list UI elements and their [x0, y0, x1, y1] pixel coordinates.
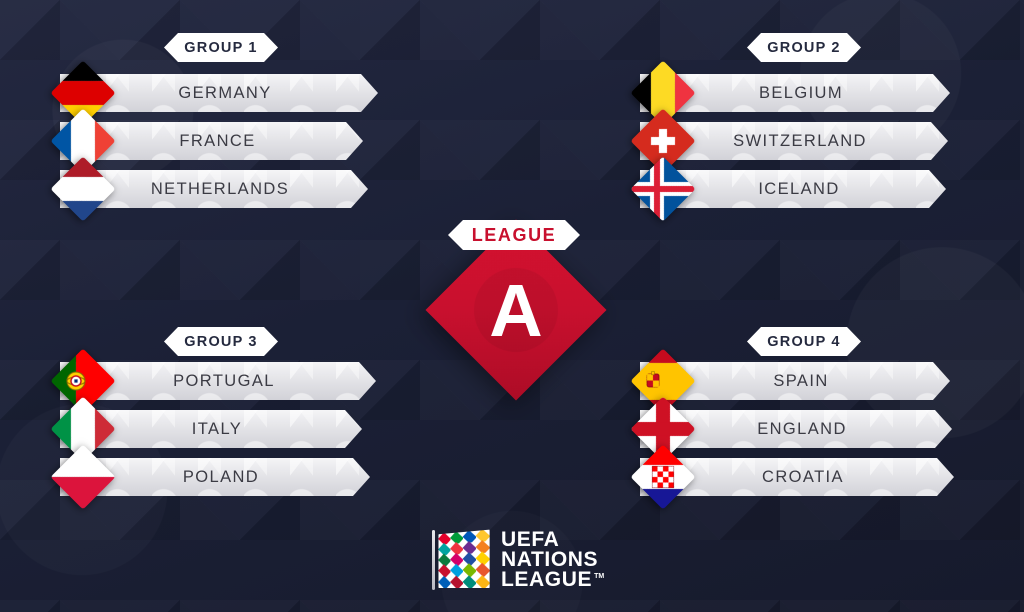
- team-row-spain[interactable]: SPAIN: [640, 362, 950, 400]
- logo-line-uefa: UEFA: [501, 530, 604, 550]
- league-badge: LEAGUE A: [426, 222, 606, 402]
- team-row-poland[interactable]: POLAND: [60, 458, 370, 496]
- team-row-croatia[interactable]: CROATIA: [640, 458, 954, 496]
- nordic-cross-icon: [630, 156, 695, 221]
- group-banner-3: GROUP 3: [164, 327, 278, 356]
- team-row-switzerland[interactable]: SWITZERLAND: [640, 122, 948, 160]
- croatia-flag: [630, 444, 695, 509]
- logo-diamond-grid: [438, 530, 489, 588]
- logo-diamond-cell: [476, 576, 490, 588]
- swiss-cross-icon: [646, 124, 680, 158]
- portugal-armillary-icon: [65, 370, 87, 392]
- logo-diamond-cell: [450, 577, 463, 588]
- team-row-belgium[interactable]: BELGIUM: [640, 74, 950, 112]
- poland-flag: [50, 444, 115, 509]
- group-banner-2-label: GROUP 2: [767, 40, 840, 56]
- team-row-france[interactable]: FRANCE: [60, 122, 363, 160]
- league-tag-label: LEAGUE: [472, 225, 557, 246]
- group-banner-4-label: GROUP 4: [767, 334, 840, 350]
- netherlands-flag: [50, 156, 115, 221]
- group-banner-4: GROUP 4: [747, 327, 861, 356]
- group-banner-1: GROUP 1: [164, 33, 278, 62]
- team-row-england[interactable]: ENGLAND: [640, 410, 952, 448]
- logo-line-league: LEAGUE: [501, 570, 604, 590]
- group-banner-2: GROUP 2: [747, 33, 861, 62]
- logo-flagpole: [432, 530, 435, 590]
- logo-line-nations: NATIONS: [501, 550, 604, 570]
- league-tag: LEAGUE: [448, 220, 580, 250]
- nations-league-draw-graphic: GROUP 1 GERMANY FRANCE NETHERLANDS: [0, 0, 1024, 612]
- group-banner-3-label: GROUP 3: [184, 334, 257, 350]
- team-row-italy[interactable]: ITALY: [60, 410, 362, 448]
- spain-coat-of-arms-icon: [645, 371, 661, 391]
- logo-flag-icon: [432, 528, 490, 592]
- logo-wordmark: UEFA NATIONS LEAGUE: [501, 530, 604, 590]
- team-row-portugal[interactable]: PORTUGAL: [60, 362, 376, 400]
- group-banner-1-label: GROUP 1: [184, 40, 257, 56]
- logo-diamond-cell: [463, 577, 476, 588]
- uefa-nations-league-logo: UEFA NATIONS LEAGUE: [432, 528, 604, 592]
- team-row-germany[interactable]: GERMANY: [60, 74, 378, 112]
- team-row-iceland[interactable]: ICELAND: [640, 170, 946, 208]
- croatia-checkerboard-icon: [652, 466, 674, 488]
- team-row-netherlands[interactable]: NETHERLANDS: [60, 170, 368, 208]
- iceland-flag: [630, 156, 695, 221]
- logo-diamond-cell: [438, 577, 450, 588]
